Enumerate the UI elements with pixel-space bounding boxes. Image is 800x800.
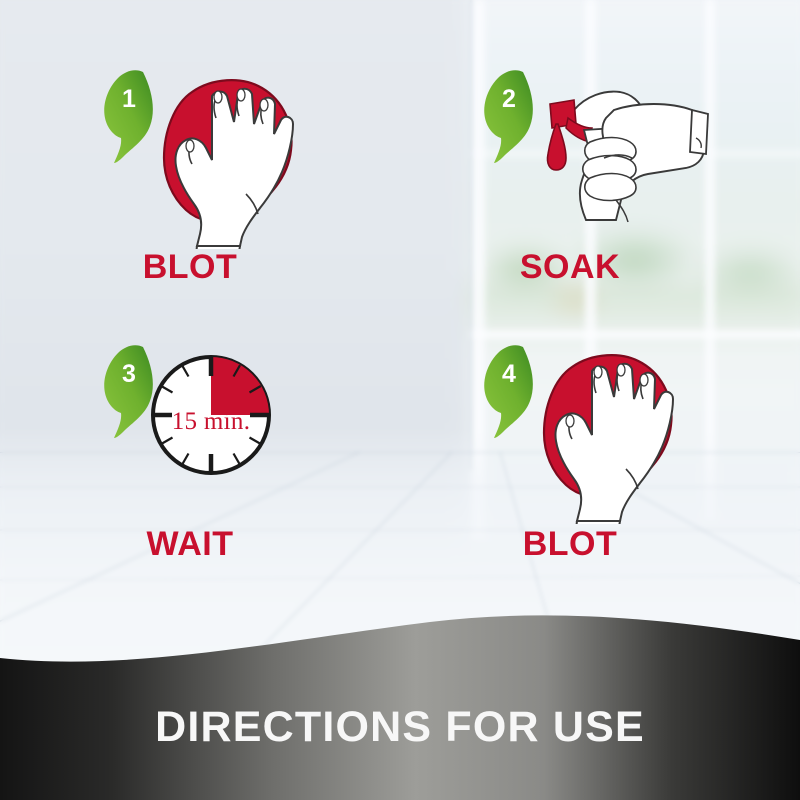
- step-3-artwork: 3: [40, 335, 340, 520]
- banner-shape: [0, 600, 800, 800]
- banner-title: DIRECTIONS FOR USE: [0, 703, 800, 752]
- step-1-label: BLOT: [40, 248, 340, 287]
- step-4-label: BLOT: [420, 525, 720, 564]
- directions-banner: DIRECTIONS FOR USE: [0, 600, 800, 800]
- hand-with-red-cloth-icon: [530, 349, 690, 524]
- step-4-artwork: 4: [420, 335, 720, 520]
- step-1: 1 BLOT: [40, 60, 340, 245]
- leaf-badge-number: 4: [482, 362, 536, 387]
- timer-clock-icon: 15 min.: [148, 352, 274, 478]
- leaf-icon: [102, 68, 156, 164]
- step-4: 4 BLOT: [420, 335, 720, 520]
- step-2-artwork: 2: [420, 60, 720, 245]
- step-3: 3: [40, 335, 340, 520]
- hand-with-red-cloth-icon: [150, 74, 310, 249]
- step-3-label: WAIT: [40, 525, 340, 564]
- step-2: 2: [420, 60, 720, 245]
- step-2-label: SOAK: [420, 248, 720, 287]
- leaf-badge-number: 1: [102, 87, 156, 112]
- leaf-badge-1: 1: [102, 68, 156, 164]
- directions-for-use-poster: 1 BLOT: [0, 0, 800, 800]
- hand-with-spray-bottle-icon: [528, 80, 728, 230]
- leaf-icon: [482, 343, 536, 439]
- leaf-badge-4: 4: [482, 343, 536, 439]
- step-1-artwork: 1: [40, 60, 340, 245]
- timer-duration-label: 15 min.: [148, 408, 274, 436]
